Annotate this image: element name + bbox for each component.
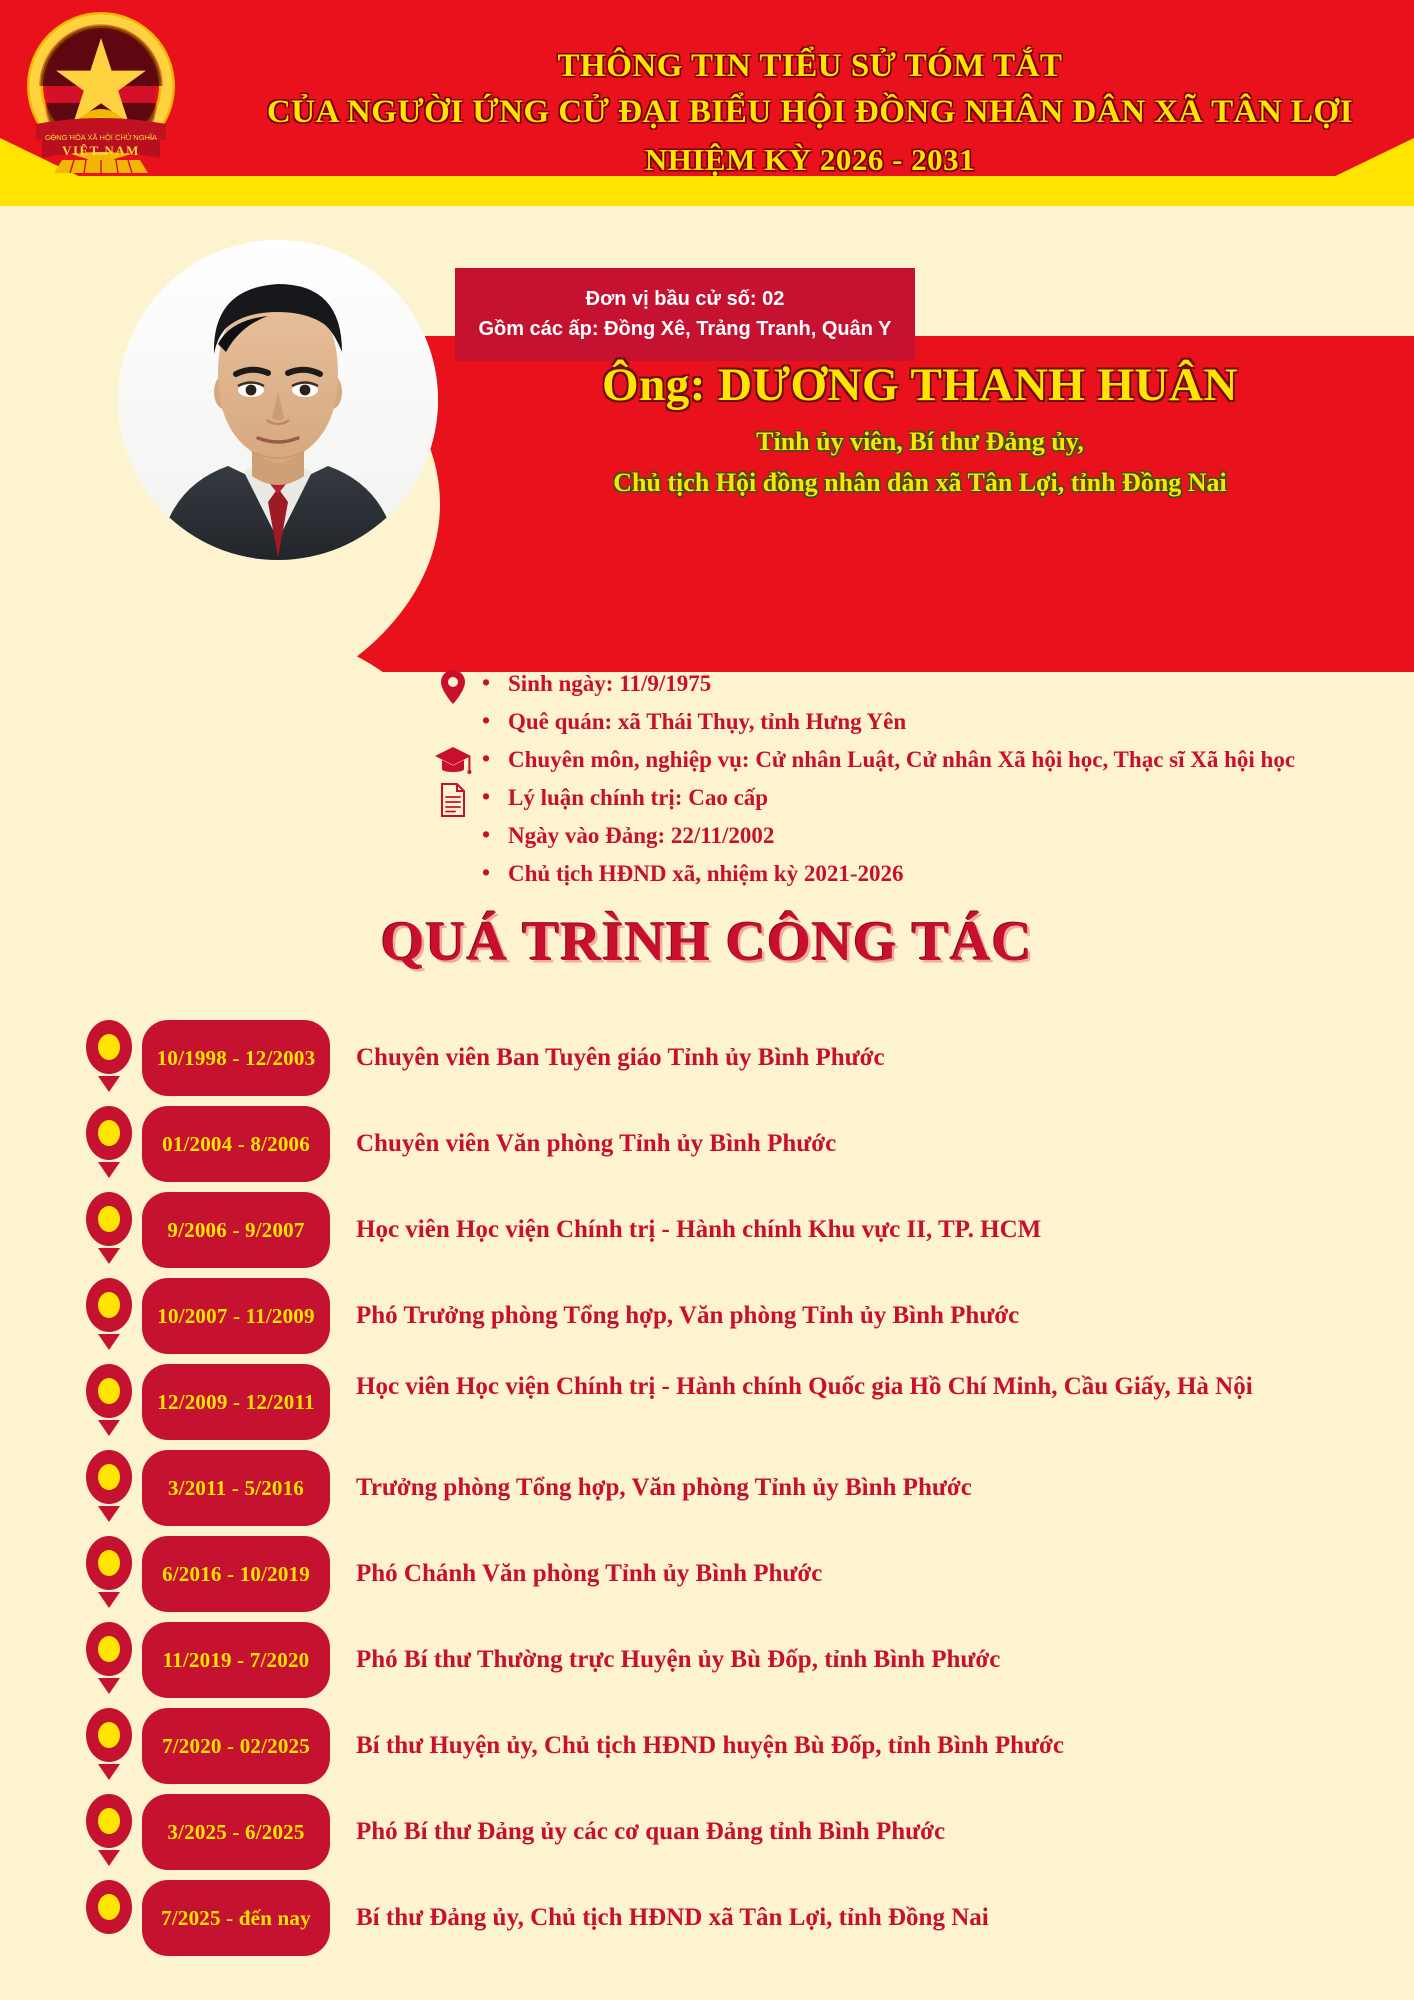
timeline-date-text: 7/2020 - 02/2025 <box>162 1734 310 1759</box>
timeline-description: Chuyên viên Ban Tuyên giáo Tỉnh ủy Bình … <box>330 1020 1334 1096</box>
timeline-arrow-icon <box>98 1248 120 1264</box>
fact-text: Ngày vào Đảng: 22/11/2002 <box>508 820 1410 852</box>
header-title-group: THÔNG TIN TIỂU SỬ TÓM TẮT CỦA NGƯỜI ỨNG … <box>220 46 1400 178</box>
timeline-description: Chuyên viên Văn phòng Tỉnh ủy Bình Phước <box>330 1106 1334 1182</box>
timeline-date-text: 11/2019 - 7/2020 <box>163 1648 310 1673</box>
timeline-date-badge: 10/2007 - 11/2009 <box>142 1278 330 1354</box>
svg-text:CỘNG HÒA XÃ HỘI CHỦ NGHĨA: CỘNG HÒA XÃ HỘI CHỦ NGHĨA <box>45 133 157 142</box>
timeline-date-badge: 9/2006 - 9/2007 <box>142 1192 330 1268</box>
timeline-row: 12/2009 - 12/2011 Học viên Học viện Chín… <box>80 1364 1334 1440</box>
work-history-timeline: 10/1998 - 12/2003 Chuyên viên Ban Tuyên … <box>80 1020 1334 1966</box>
timeline-description: Học viên Học viện Chính trị - Hành chính… <box>330 1364 1334 1440</box>
timeline-arrow-icon <box>98 1850 120 1866</box>
timeline-dot-icon <box>86 1708 132 1762</box>
fact-text: Lý luận chính trị: Cao cấp <box>508 782 1410 814</box>
timeline-description: Bí thư Huyện ủy, Chủ tịch HĐND huyện Bù … <box>330 1708 1334 1784</box>
timeline-marker <box>80 1278 138 1350</box>
timeline-description: Phó Chánh Văn phòng Tỉnh ủy Bình Phước <box>330 1536 1334 1612</box>
candidate-photo <box>118 240 438 560</box>
timeline-arrow-icon <box>98 1764 120 1780</box>
timeline-dot-icon <box>86 1880 132 1934</box>
timeline-date-badge: 01/2004 - 8/2006 <box>142 1106 330 1182</box>
fact-row-party-date: Ngày vào Đảng: 22/11/2002 <box>430 820 1410 858</box>
timeline-marker <box>80 1708 138 1780</box>
timeline-arrow-icon <box>98 1592 120 1608</box>
candidate-facts-list: Sinh ngày: 11/9/1975 Quê quán: xã Thái T… <box>430 668 1410 896</box>
timeline-dot-icon <box>86 1450 132 1504</box>
timeline-date-badge: 12/2009 - 12/2011 <box>142 1364 330 1440</box>
timeline-date-text: 3/2025 - 6/2025 <box>167 1820 304 1845</box>
header-title-line-2: CỦA NGƯỜI ỨNG CỬ ĐẠI BIỂU HỘI ĐỒNG NHÂN … <box>220 92 1400 132</box>
timeline-date-badge: 6/2016 - 10/2019 <box>142 1536 330 1612</box>
electoral-unit-hamlets: Gồm các ấp: Đồng Xê, Trảng Tranh, Quân Y <box>467 314 903 344</box>
candidate-name: Ông: DƯƠNG THANH HUÂN <box>440 358 1400 412</box>
timeline-date-badge: 7/2020 - 02/2025 <box>142 1708 330 1784</box>
work-history-title: QUÁ TRÌNH CÔNG TÁC <box>0 910 1414 974</box>
timeline-description: Phó Bí thư Thường trực Huyện ủy Bù Đốp, … <box>330 1622 1334 1698</box>
timeline-description: Phó Trưởng phòng Tổng hợp, Văn phòng Tỉn… <box>330 1278 1334 1354</box>
fact-row-hometown: Quê quán: xã Thái Thụy, tỉnh Hưng Yên <box>430 706 1410 744</box>
timeline-row: 3/2011 - 5/2016 Trưởng phòng Tổng hợp, V… <box>80 1450 1334 1526</box>
document-icon <box>430 783 476 825</box>
timeline-date-badge: 11/2019 - 7/2020 <box>142 1622 330 1698</box>
timeline-marker <box>80 1106 138 1178</box>
timeline-row: 7/2020 - 02/2025 Bí thư Huyện ủy, Chủ tị… <box>80 1708 1334 1784</box>
timeline-marker <box>80 1536 138 1608</box>
timeline-row: 9/2006 - 9/2007 Học viên Học viện Chính … <box>80 1192 1334 1268</box>
fact-text: Sinh ngày: 11/9/1975 <box>508 668 1410 700</box>
fact-text: Chủ tịch HĐND xã, nhiệm kỳ 2021-2026 <box>508 858 1410 890</box>
fact-text: Quê quán: xã Thái Thụy, tỉnh Hưng Yên <box>508 706 1410 738</box>
electoral-unit-number: Đơn vị bầu cử số: 02 <box>467 284 903 314</box>
graduation-cap-icon <box>430 745 476 787</box>
timeline-arrow-icon <box>98 1678 120 1694</box>
timeline-row: 3/2025 - 6/2025 Phó Bí thư Đảng ủy các c… <box>80 1794 1334 1870</box>
timeline-date-badge: 10/1998 - 12/2003 <box>142 1020 330 1096</box>
fact-row-education: Chuyên môn, nghiệp vụ: Cử nhân Luật, Cử … <box>430 744 1410 782</box>
timeline-date-text: 01/2004 - 8/2006 <box>162 1132 310 1157</box>
electoral-unit-box: Đơn vị bầu cử số: 02 Gồm các ấp: Đồng Xê… <box>455 268 915 361</box>
timeline-marker <box>80 1880 138 1934</box>
timeline-marker <box>80 1450 138 1522</box>
timeline-dot-icon <box>86 1278 132 1332</box>
timeline-date-text: 10/1998 - 12/2003 <box>157 1046 316 1071</box>
timeline-description: Trưởng phòng Tổng hợp, Văn phòng Tỉnh ủy… <box>330 1450 1334 1526</box>
timeline-date-badge: 3/2025 - 6/2025 <box>142 1794 330 1870</box>
candidate-name-block: Ông: DƯƠNG THANH HUÂN Tỉnh ủy viên, Bí t… <box>440 358 1400 502</box>
timeline-marker <box>80 1364 138 1436</box>
header-title-line-1: THÔNG TIN TIỂU SỬ TÓM TẮT <box>220 46 1400 86</box>
timeline-row: 6/2016 - 10/2019 Phó Chánh Văn phòng Tỉn… <box>80 1536 1334 1612</box>
timeline-date-text: 3/2011 - 5/2016 <box>168 1476 304 1501</box>
timeline-dot-icon <box>86 1020 132 1074</box>
timeline-date-badge: 3/2011 - 5/2016 <box>142 1450 330 1526</box>
timeline-marker <box>80 1622 138 1694</box>
timeline-dot-icon <box>86 1622 132 1676</box>
timeline-row: 01/2004 - 8/2006 Chuyên viên Văn phòng T… <box>80 1106 1334 1182</box>
fact-row-birthdate: Sinh ngày: 11/9/1975 <box>430 668 1410 706</box>
timeline-date-text: 10/2007 - 11/2009 <box>157 1304 314 1329</box>
timeline-description: Học viên Học viện Chính trị - Hành chính… <box>330 1192 1334 1268</box>
candidate-position-line-1: Tỉnh ủy viên, Bí thư Đảng ủy, <box>440 422 1400 461</box>
timeline-date-text: 6/2016 - 10/2019 <box>162 1562 310 1587</box>
timeline-date-badge: 7/2025 - đến nay <box>142 1880 330 1956</box>
vietnam-national-emblem-icon: CỘNG HÒA XÃ HỘI CHỦ NGHĨA VIỆT NAM <box>16 8 186 178</box>
timeline-dot-icon <box>86 1536 132 1590</box>
timeline-description: Bí thư Đảng ủy, Chủ tịch HĐND xã Tân Lợi… <box>330 1880 1334 1956</box>
candidate-position-line-2: Chủ tịch Hội đồng nhân dân xã Tân Lợi, t… <box>440 463 1400 502</box>
timeline-marker <box>80 1192 138 1264</box>
timeline-dot-icon <box>86 1192 132 1246</box>
timeline-dot-icon <box>86 1106 132 1160</box>
timeline-description: Phó Bí thư Đảng ủy các cơ quan Đảng tỉnh… <box>330 1794 1334 1870</box>
timeline-date-text: 7/2025 - đến nay <box>161 1906 311 1931</box>
header-title-line-3: NHIỆM KỲ 2026 - 2031 <box>220 141 1400 179</box>
timeline-row: 10/2007 - 11/2009 Phó Trưởng phòng Tổng … <box>80 1278 1334 1354</box>
timeline-arrow-icon <box>98 1506 120 1522</box>
timeline-arrow-icon <box>98 1076 120 1092</box>
timeline-date-text: 9/2006 - 9/2007 <box>167 1218 304 1243</box>
location-pin-icon <box>430 669 476 711</box>
timeline-row: 7/2025 - đến nay Bí thư Đảng ủy, Chủ tịc… <box>80 1880 1334 1956</box>
timeline-date-text: 12/2009 - 12/2011 <box>157 1390 314 1415</box>
fact-row-political-theory: Lý luận chính trị: Cao cấp <box>430 782 1410 820</box>
fact-text: Chuyên môn, nghiệp vụ: Cử nhân Luật, Cử … <box>508 744 1410 776</box>
timeline-dot-icon <box>86 1794 132 1848</box>
timeline-row: 10/1998 - 12/2003 Chuyên viên Ban Tuyên … <box>80 1020 1334 1096</box>
svg-text:VIỆT NAM: VIỆT NAM <box>62 143 140 158</box>
timeline-dot-icon <box>86 1364 132 1418</box>
fact-row-current-role: Chủ tịch HĐND xã, nhiệm kỳ 2021-2026 <box>430 858 1410 896</box>
timeline-arrow-icon <box>98 1334 120 1350</box>
timeline-row: 11/2019 - 7/2020 Phó Bí thư Thường trực … <box>80 1622 1334 1698</box>
work-history-title-text: QUÁ TRÌNH CÔNG TÁC <box>381 911 1033 973</box>
timeline-marker <box>80 1020 138 1092</box>
timeline-marker <box>80 1794 138 1866</box>
timeline-arrow-icon <box>98 1420 120 1436</box>
timeline-arrow-icon <box>98 1162 120 1178</box>
page-header: CỘNG HÒA XÃ HỘI CHỦ NGHĨA VIỆT NAM THÔNG… <box>0 0 1414 196</box>
